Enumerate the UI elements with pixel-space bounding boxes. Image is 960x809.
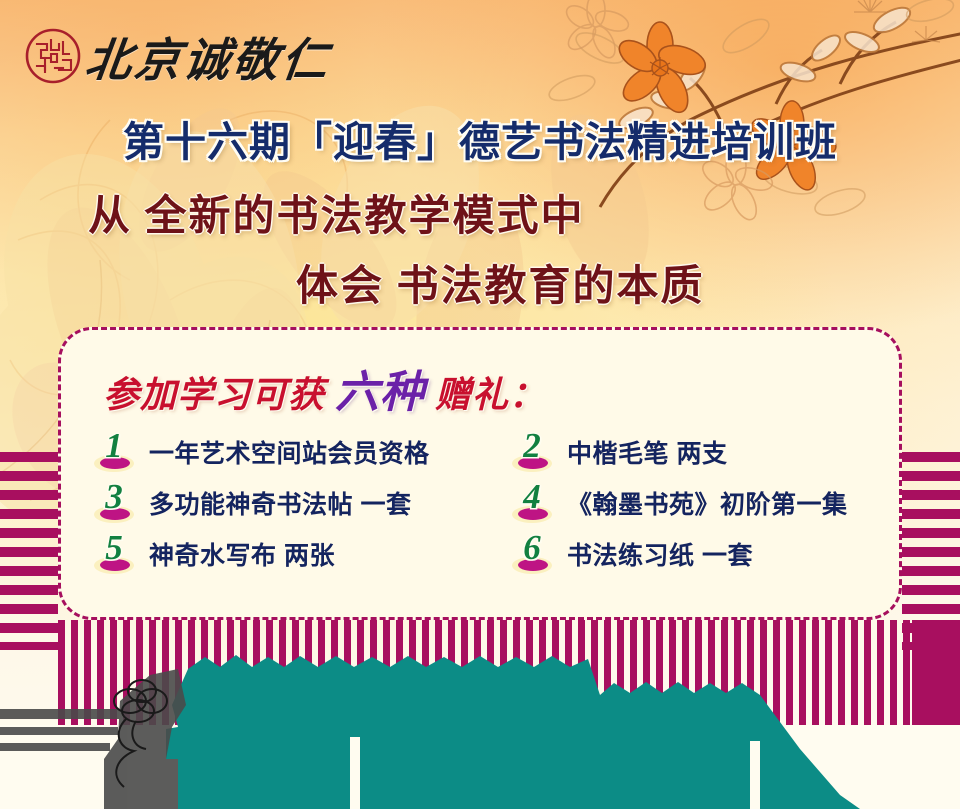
page-title: 第十六期「迎春」德艺书法精进培训班	[0, 108, 960, 168]
number-badge-icon-4: 4	[509, 481, 555, 525]
gift-item-5: 5 神奇水写布 两张	[91, 528, 509, 579]
gift-heading-highlight: 六种	[335, 368, 425, 417]
gift-item-1: 1 一年艺术空间站会员资格	[91, 426, 509, 477]
gift-heading: 参加学习可获 六种 赠礼：	[103, 356, 546, 420]
gift-label-3: 多功能神奇书法帖 一套	[149, 485, 411, 521]
gift-heading-suffix: 赠礼：	[435, 375, 546, 415]
gift-label-1: 一年艺术空间站会员资格	[149, 434, 430, 470]
gift-label-4: 《翰墨书苑》初阶第一集	[567, 485, 848, 521]
gift-number-6: 6	[509, 528, 555, 568]
gift-item-6: 6 书法练习纸 一套	[509, 528, 881, 579]
gift-label-2: 中楷毛笔 两支	[567, 434, 727, 470]
company-seal-icon	[25, 28, 81, 84]
gift-number-2: 2	[509, 426, 555, 466]
gift-number-3: 3	[91, 477, 137, 517]
gift-number-4: 4	[509, 477, 555, 517]
number-badge-icon-5: 5	[91, 532, 137, 576]
number-badge-icon-3: 3	[91, 481, 137, 525]
bottom-artwork-silhouette	[0, 609, 960, 809]
gift-item-3: 3 多功能神奇书法帖 一套	[91, 477, 509, 528]
poster-root: 北京诚敬仁 第十六期「迎春」德艺书法精进培训班 从 全新的书法教学模式中 体会 …	[0, 0, 960, 809]
gift-list: 1 一年艺术空间站会员资格 2 中楷毛笔 两支 3 多功能神奇书法帖 一套	[91, 426, 881, 579]
number-badge-icon-1: 1	[91, 430, 137, 474]
tagline-line-1: 从 全新的书法教学模式中	[88, 182, 585, 243]
number-badge-icon-2: 2	[509, 430, 555, 474]
number-badge-icon-6: 6	[509, 532, 555, 576]
brand-name: 北京诚敬仁	[82, 24, 335, 90]
gift-card: 参加学习可获 六种 赠礼： 1 一年艺术空间站会员资格 2 中楷毛笔 两支	[58, 327, 902, 620]
gift-label-5: 神奇水写布 两张	[149, 536, 335, 572]
gift-number-5: 5	[91, 528, 137, 568]
gift-item-4: 4 《翰墨书苑》初阶第一集	[509, 477, 881, 528]
tagline-line-2: 体会 书法教育的本质	[296, 252, 705, 313]
gift-number-1: 1	[91, 426, 137, 466]
gift-item-2: 2 中楷毛笔 两支	[509, 426, 881, 477]
gift-label-6: 书法练习纸 一套	[567, 536, 753, 572]
gift-heading-prefix: 参加学习可获	[103, 375, 325, 415]
